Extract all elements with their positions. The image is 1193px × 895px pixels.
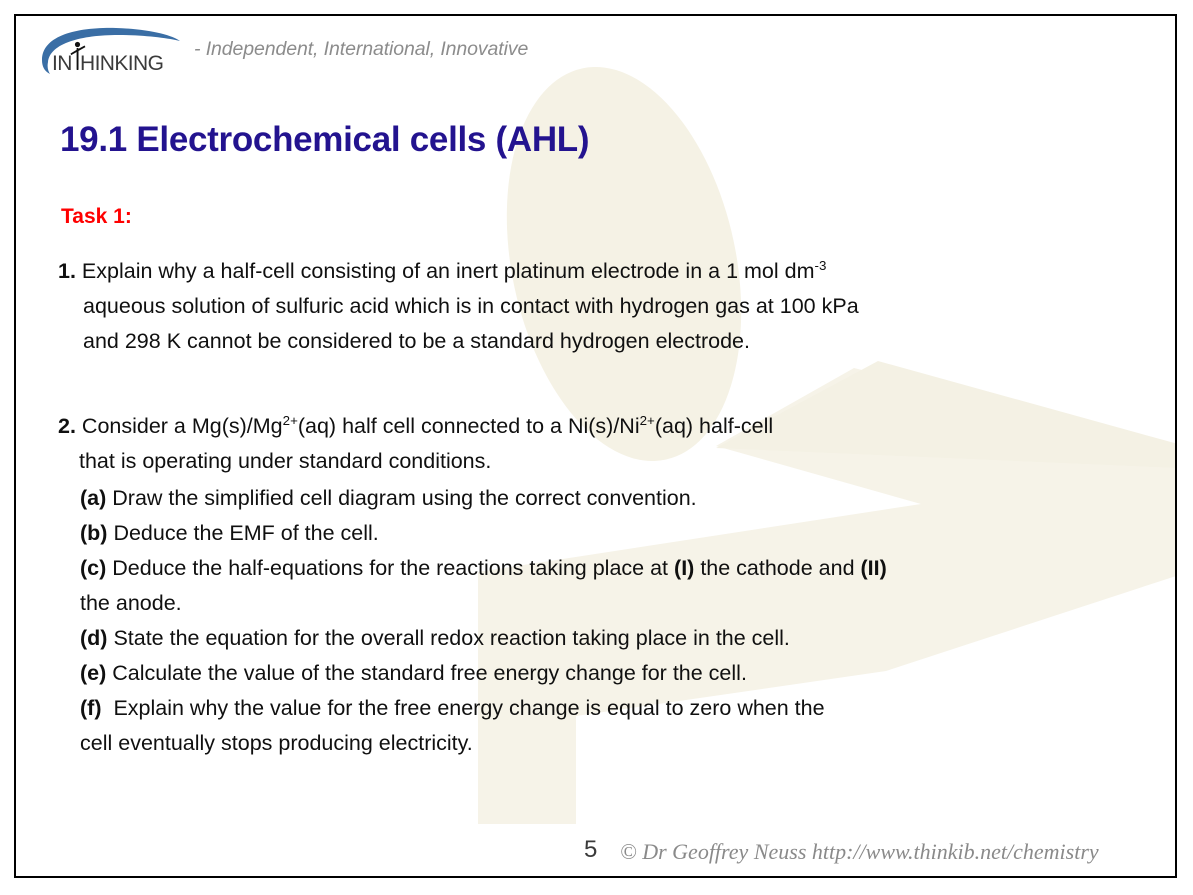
sub-item-f-text-1: Explain why the value for the free energ… xyxy=(113,696,824,720)
sub-item-c: (c) Deduce the half-equations for the re… xyxy=(58,551,1168,586)
sub-item-b: (b) Deduce the EMF of the cell. xyxy=(58,516,1168,551)
question-1-line-2: aqueous solution of sulfuric acid which … xyxy=(58,289,1168,324)
brand-tagline: - Independent, International, Innovative xyxy=(194,38,528,61)
question-2-text-c: (aq) half-cell xyxy=(655,414,773,438)
sub-item-a: (a) Draw the simplified cell diagram usi… xyxy=(58,481,1168,516)
question-2-number: 2. xyxy=(58,414,76,438)
inthinking-logo-icon: IN HINKING xyxy=(32,26,184,78)
sub-item-a-tag: (a) xyxy=(80,486,106,510)
sub-item-f: (f) Explain why the value for the free e… xyxy=(58,691,1168,726)
sub-item-b-text: Deduce the EMF of the cell. xyxy=(113,521,378,545)
slide-root: IN HINKING - Independent, International,… xyxy=(0,0,1193,895)
block-spacer xyxy=(58,359,1168,409)
sub-item-c-bold-1: (I) xyxy=(674,556,694,580)
question-1: 1. Explain why a half-cell consisting of… xyxy=(58,254,1168,359)
svg-text:IN: IN xyxy=(52,52,72,75)
page-number: 5 xyxy=(584,836,597,864)
sub-item-f-continuation: cell eventually stops producing electric… xyxy=(58,726,1168,761)
sub-item-e-tag: (e) xyxy=(80,661,106,685)
ni-charge-superscript: 2+ xyxy=(640,413,655,428)
copyright-notice: © Dr Geoffrey Neuss http://www.thinkib.n… xyxy=(620,839,1099,865)
page-title: 19.1 Electrochemical cells (AHL) xyxy=(60,120,589,160)
question-1-text-1: Explain why a half-cell consisting of an… xyxy=(82,259,815,283)
sub-item-e: (e) Calculate the value of the standard … xyxy=(58,656,1168,691)
sub-item-c-bold-2: (II) xyxy=(861,556,887,580)
sub-item-f-tag: (f) xyxy=(80,696,101,720)
question-2-line-1: 2. Consider a Mg(s)/Mg2+(aq) half cell c… xyxy=(58,409,1168,444)
sub-item-d-tag: (d) xyxy=(80,626,107,650)
sub-item-a-text: Draw the simplified cell diagram using t… xyxy=(112,486,696,510)
sub-item-b-tag: (b) xyxy=(80,521,107,545)
task-label: Task 1: xyxy=(61,205,132,229)
sub-item-c-text-1: Deduce the half-equations for the reacti… xyxy=(112,556,668,580)
brand-header: IN HINKING - Independent, International,… xyxy=(32,24,577,86)
question-2-text-b: (aq) half cell connected to a Ni(s)/Ni xyxy=(298,414,640,438)
slide-footer: 5 © Dr Geoffrey Neuss http://www.thinkib… xyxy=(16,836,1175,870)
mg-charge-superscript: 2+ xyxy=(283,413,298,428)
slide-body: 1. Explain why a half-cell consisting of… xyxy=(58,254,1168,761)
sub-item-c-continuation: the anode. xyxy=(58,586,1168,621)
sub-item-e-text: Calculate the value of the standard free… xyxy=(112,661,747,685)
question-1-line-3: and 298 K cannot be considered to be a s… xyxy=(58,324,1168,359)
question-2-line-2: that is operating under standard conditi… xyxy=(58,444,1168,479)
sub-item-c-tag: (c) xyxy=(80,556,106,580)
sub-item-d: (d) State the equation for the overall r… xyxy=(58,621,1168,656)
question-1-line-1: 1. Explain why a half-cell consisting of… xyxy=(58,254,1168,289)
question-2-text-a: Consider a Mg(s)/Mg xyxy=(82,414,283,438)
slide-frame: IN HINKING - Independent, International,… xyxy=(14,14,1177,878)
question-2-sub-items: (a) Draw the simplified cell diagram usi… xyxy=(58,481,1168,761)
question-2: 2. Consider a Mg(s)/Mg2+(aq) half cell c… xyxy=(58,409,1168,761)
svg-text:HINKING: HINKING xyxy=(80,52,163,75)
question-1-superscript: -3 xyxy=(815,258,827,273)
question-1-number: 1. xyxy=(58,259,76,283)
sub-item-d-text: State the equation for the overall redox… xyxy=(113,626,789,650)
sub-item-c-text-2: the cathode and xyxy=(700,556,854,580)
